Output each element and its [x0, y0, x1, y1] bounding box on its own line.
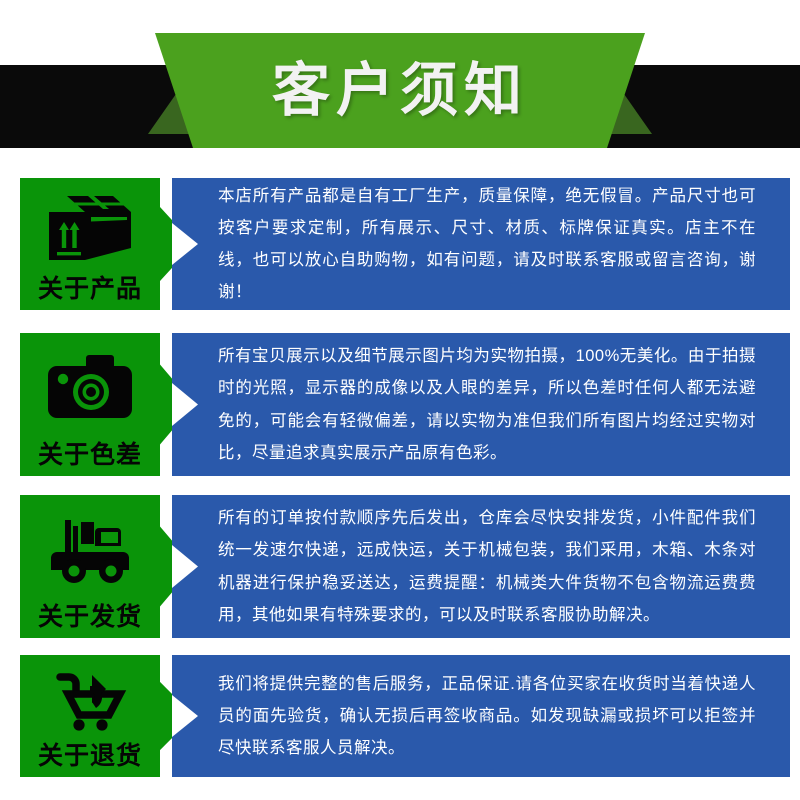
text-panel-color: 所有宝贝展示以及细节展示图片均为实物拍摄，100%无美化。由于拍摄时的光照，显示… — [172, 333, 790, 476]
icon-card-returns: 关于退货 — [20, 655, 160, 777]
icon-card-color: 关于色差 — [20, 333, 160, 476]
notice-block-color: 关于色差 所有宝贝展示以及细节展示图片均为实物拍摄，100%无美化。由于拍摄时的… — [0, 333, 800, 476]
icon-label-shipping: 关于发货 — [20, 605, 160, 638]
banner-ribbon — [155, 33, 645, 148]
notice-block-product: 关于产品 本店所有产品都是自有工厂生产，质量保障，绝无假冒。产品尺寸也可按客户要… — [0, 178, 800, 310]
notice-block-shipping: 关于发货 所有的订单按付款顺序先后发出，仓库会尽快安排发货，小件配件我们统一发速… — [0, 495, 800, 638]
forklift-icon — [20, 495, 160, 605]
camera-icon — [20, 333, 160, 443]
icon-label-color: 关于色差 — [20, 443, 160, 476]
icon-card-product: 关于产品 — [20, 178, 160, 310]
page-header: 客户须知 — [0, 0, 800, 160]
return-cart-icon — [20, 655, 160, 744]
text-panel-product: 本店所有产品都是自有工厂生产，质量保障，绝无假冒。产品尺寸也可按客户要求定制，所… — [172, 178, 790, 310]
text-panel-shipping: 所有的订单按付款顺序先后发出，仓库会尽快安排发货，小件配件我们统一发速尔快递，远… — [172, 495, 790, 638]
notice-text-returns: 我们将提供完整的售后服务，正品保证.请各位买家在收货时当着快递人员的面先验货，确… — [172, 668, 790, 765]
icon-card-shipping: 关于发货 — [20, 495, 160, 638]
icon-label-returns: 关于退货 — [20, 744, 160, 777]
notice-block-returns: 关于退货 我们将提供完整的售后服务，正品保证.请各位买家在收货时当着快递人员的面… — [0, 655, 800, 777]
notice-text-color: 所有宝贝展示以及细节展示图片均为实物拍摄，100%无美化。由于拍摄时的光照，显示… — [172, 340, 790, 469]
notice-text-product: 本店所有产品都是自有工厂生产，质量保障，绝无假冒。产品尺寸也可按客户要求定制，所… — [172, 180, 790, 309]
package-box-icon — [20, 178, 160, 277]
notice-text-shipping: 所有的订单按付款顺序先后发出，仓库会尽快安排发货，小件配件我们统一发速尔快递，远… — [172, 502, 790, 631]
customer-notice-page: 客户须知 — [0, 0, 800, 800]
text-panel-returns: 我们将提供完整的售后服务，正品保证.请各位买家在收货时当着快递人员的面先验货，确… — [172, 655, 790, 777]
icon-label-product: 关于产品 — [20, 277, 160, 310]
